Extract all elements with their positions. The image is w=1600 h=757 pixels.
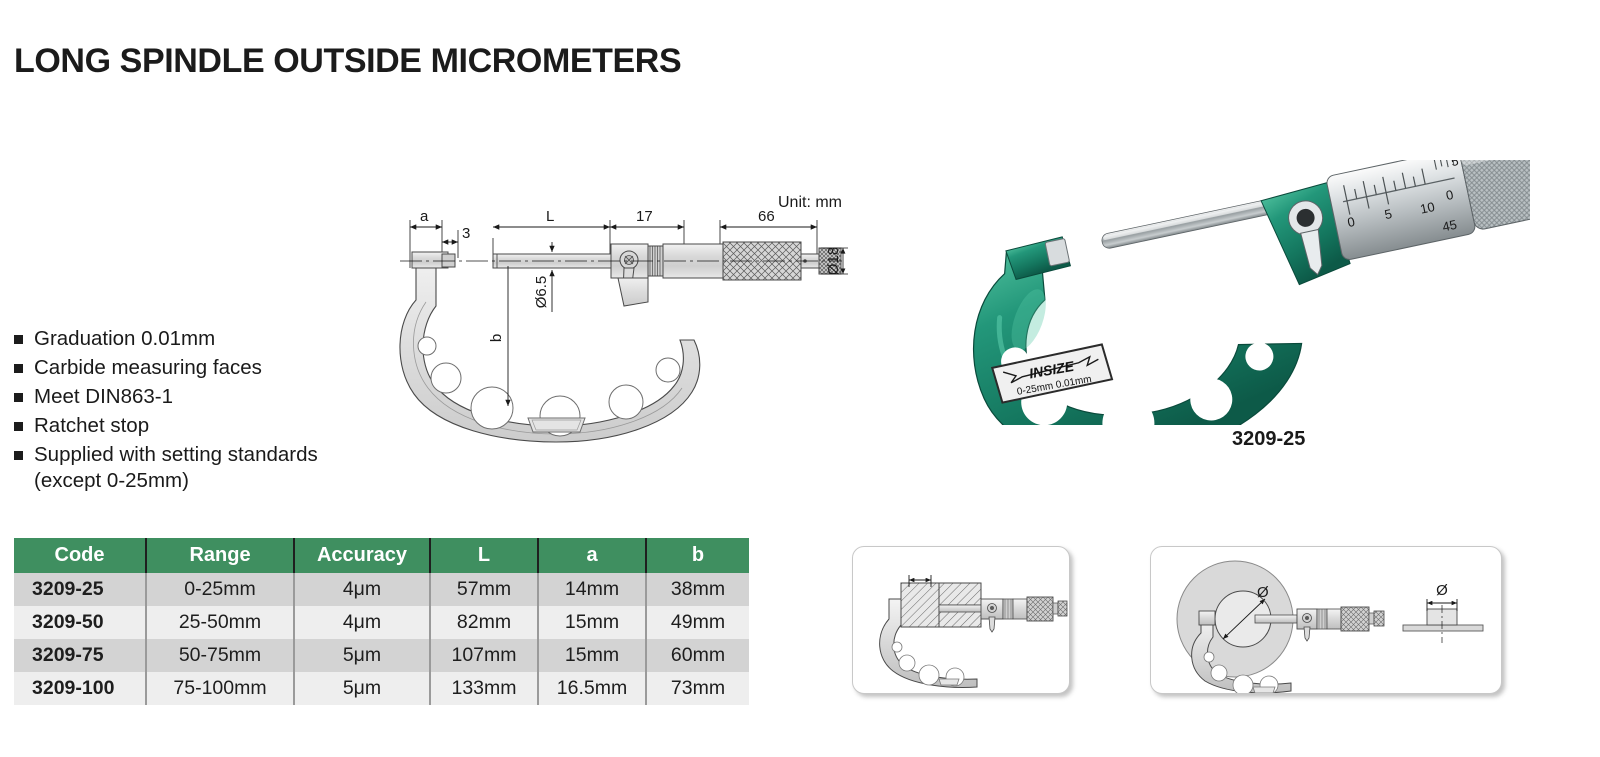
micrometer-photo-illustration: 0 5 10 0 45 5 [930,160,1530,425]
feature-label: Graduation 0.01mm [34,326,215,352]
list-item: Carbide measuring faces [14,355,434,381]
bullet-square-icon [14,422,23,431]
cell-a: 16.5mm [538,672,646,705]
thimble-tick-45: 45 [1441,217,1458,235]
lock-lever-1 [989,617,995,632]
list-item: Supplied with setting standards (except … [14,442,434,494]
cell-range: 25-50mm [146,606,294,639]
cell-code: 3209-25 [14,573,146,606]
ratchet-1 [1058,601,1067,616]
specification-table: Code Range Accuracy L a b 3209-25 0-25mm… [14,538,749,705]
unit-label: Unit: mm [778,194,842,212]
frame-plate-2 [1253,687,1275,693]
lock-center-1 [990,606,994,610]
carbide-anvil-face [442,254,455,267]
column-header-l: L [430,538,538,573]
feature-label: Supplied with setting standards [34,442,318,468]
usage-diagram-stepped-workpiece [852,546,1070,694]
feature-label-group: Supplied with setting standards (except … [34,442,318,494]
product-photo: 0 5 10 0 45 5 [930,160,1530,425]
ratchet-2 [1374,611,1384,626]
cell-b: 73mm [646,672,749,705]
table-row: 3209-75 50-75mm 5μm 107mm 15mm 60mm [14,639,749,672]
cell-a: 14mm [538,573,646,606]
dim-a-label: a [420,208,429,225]
list-item: Meet DIN863-1 [14,384,434,410]
list-item: Graduation 0.01mm [14,326,434,352]
cell-l: 57mm [430,573,538,606]
sleeve-2 [1327,609,1341,629]
anvil-2 [1199,611,1215,625]
cell-accuracy: 5μm [294,639,430,672]
detail-plate [1403,625,1483,631]
column-header-code: Code [14,538,146,573]
dim-66-label: 66 [758,208,775,225]
micrometer-outline-drawing: a 3 L 17 66 [380,180,850,460]
cell-accuracy: 4μm [294,573,430,606]
cell-b: 49mm [646,606,749,639]
page-title: LONG SPINDLE OUTSIDE MICROMETERS [14,42,681,81]
workpiece-block-left [901,583,939,627]
table-header-row: Code Range Accuracy L a b [14,538,749,573]
feature-label-continuation: (except 0-25mm) [34,468,318,494]
usage-illustration-2: Ø [1151,547,1502,694]
cell-l: 107mm [430,639,538,672]
usage-diagram-boss-diameter: Ø [1150,546,1502,694]
frame-plate-1 [939,679,959,685]
lock-center-2 [1305,616,1309,620]
carbide-anvil-face-photo [1045,238,1070,266]
cell-range: 0-25mm [146,573,294,606]
photo-caption: 3209-25 [1232,428,1305,451]
feature-list: Graduation 0.01mm Carbide measuring face… [14,326,434,497]
list-item: Ratchet stop [14,413,434,439]
datasheet-page: LONG SPINDLE OUTSIDE MICROMETERS Graduat… [0,0,1600,757]
dim-3-label: 3 [462,225,470,242]
bullet-square-icon [14,364,23,373]
column-header-b: b [646,538,749,573]
lock-lever-2 [1304,627,1310,641]
sleeve-photo: 0 5 10 0 45 5 [1325,160,1476,261]
table-row: 3209-25 0-25mm 4μm 57mm 14mm 38mm [14,573,749,606]
cell-code: 3209-75 [14,639,146,672]
dim-dia18-label: Ø18 [825,247,842,275]
cell-range: 75-100mm [146,672,294,705]
bullet-square-icon [14,335,23,344]
cell-l: 82mm [430,606,538,639]
cell-code: 3209-100 [14,672,146,705]
thimble-collar-1 [1053,603,1058,614]
cell-accuracy: 4μm [294,606,430,639]
dim-b-label: b [488,334,505,342]
column-header-a: a [538,538,646,573]
bullet-square-icon [14,451,23,460]
spindle-2 [1255,615,1297,623]
cell-b: 38mm [646,573,749,606]
barrel-mount-foot [618,278,648,306]
dim-L-label: L [546,208,554,225]
cell-a: 15mm [538,606,646,639]
cell-range: 50-75mm [146,639,294,672]
table-row: 3209-100 75-100mm 5μm 133mm 16.5mm 73mm [14,672,749,705]
feature-label: Ratchet stop [34,413,149,439]
detail-diameter-symbol: Ø [1436,582,1448,599]
feature-label: Carbide measuring faces [34,355,262,381]
thimble-1 [1027,597,1053,621]
cell-code: 3209-50 [14,606,146,639]
diameter-symbol-disc: Ø [1257,584,1269,601]
boss-detail-drawing: Ø [1403,582,1483,643]
sleeve-tick-10: 10 [1419,199,1436,217]
cell-l: 133mm [430,672,538,705]
column-header-accuracy: Accuracy [294,538,430,573]
cell-accuracy: 5μm [294,672,430,705]
sleeve-1 [1013,599,1027,619]
thimble-2 [1341,607,1369,631]
table-row: 3209-50 25-50mm 4μm 82mm 15mm 49mm [14,606,749,639]
technical-drawing: Unit: mm [380,180,850,460]
workpiece-block-step [939,583,981,605]
column-header-range: Range [146,538,294,573]
thimble-collar-2 [1369,613,1374,624]
usage-illustration-1 [853,547,1070,694]
workpiece-block-lower [939,611,981,627]
dim-bore-label: Ø6.5 [533,276,550,309]
bullet-square-icon [14,393,23,402]
cell-b: 60mm [646,639,749,672]
dim-17-label: 17 [636,208,653,225]
feature-label: Meet DIN863-1 [34,384,173,410]
cell-a: 15mm [538,639,646,672]
